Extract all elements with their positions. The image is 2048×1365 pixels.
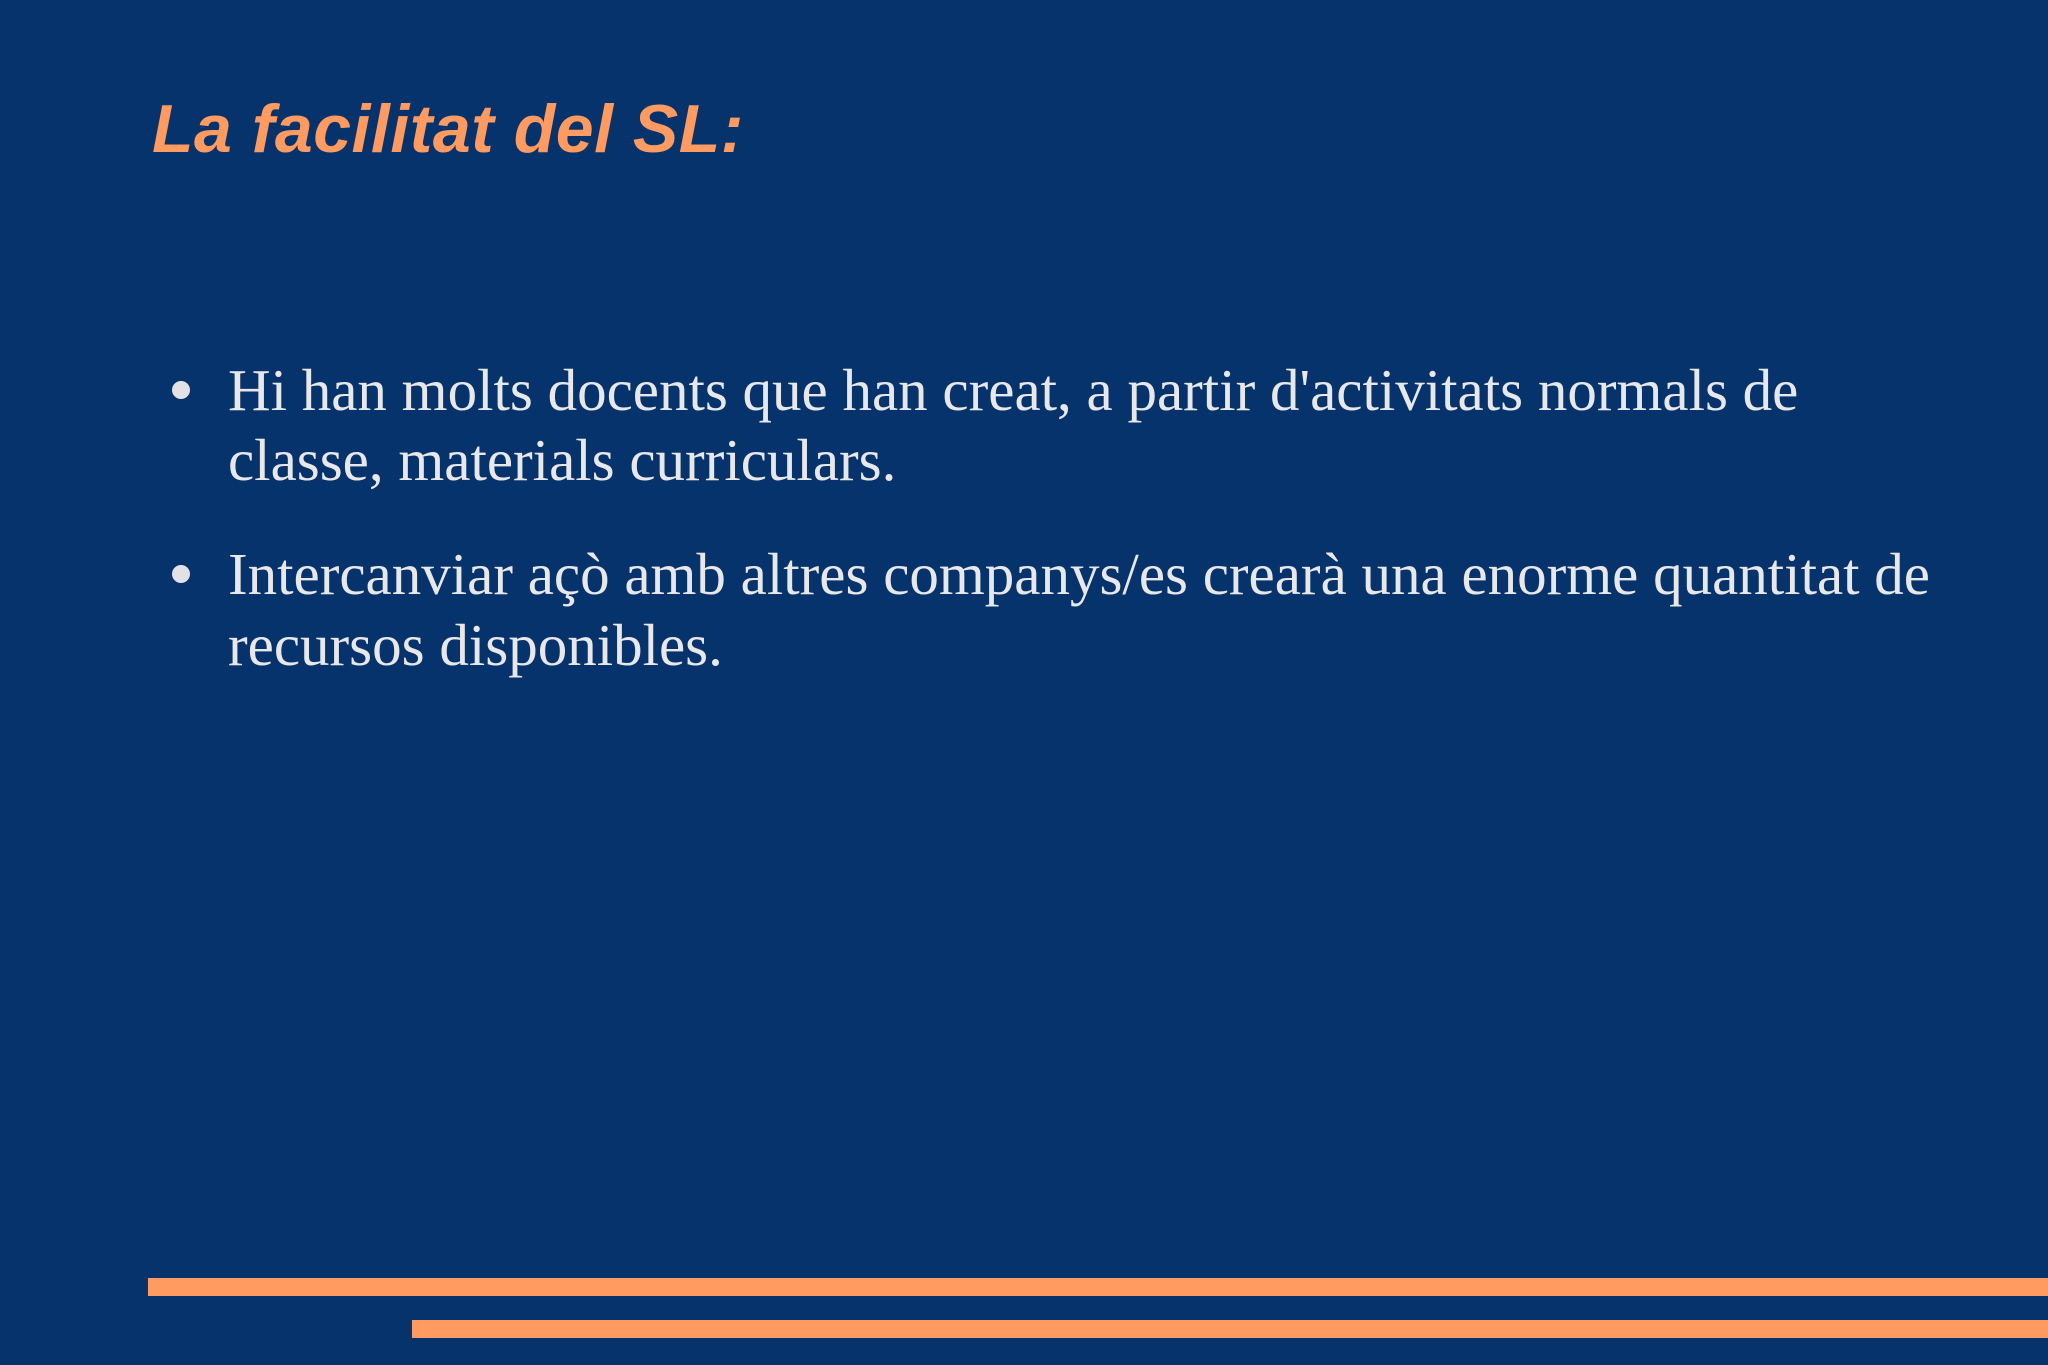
list-item: Intercanviar açò amb altres companys/es … bbox=[150, 539, 1940, 679]
slide-bullet-list: Hi han molts docents que han creat, a pa… bbox=[150, 355, 1940, 680]
slide-title: La facilitat del SL: bbox=[152, 95, 1912, 163]
bullet-text: Hi han molts docents que han creat, a pa… bbox=[228, 355, 1940, 495]
accent-bar-upper bbox=[148, 1278, 2048, 1296]
bullet-text: Intercanviar açò amb altres companys/es … bbox=[228, 539, 1940, 679]
accent-bar-lower bbox=[412, 1320, 2048, 1338]
presentation-slide: La facilitat del SL: Hi han molts docent… bbox=[0, 0, 2048, 1365]
bullet-dot-icon bbox=[172, 381, 190, 399]
list-item: Hi han molts docents que han creat, a pa… bbox=[150, 355, 1940, 495]
bullet-dot-icon bbox=[172, 565, 190, 583]
